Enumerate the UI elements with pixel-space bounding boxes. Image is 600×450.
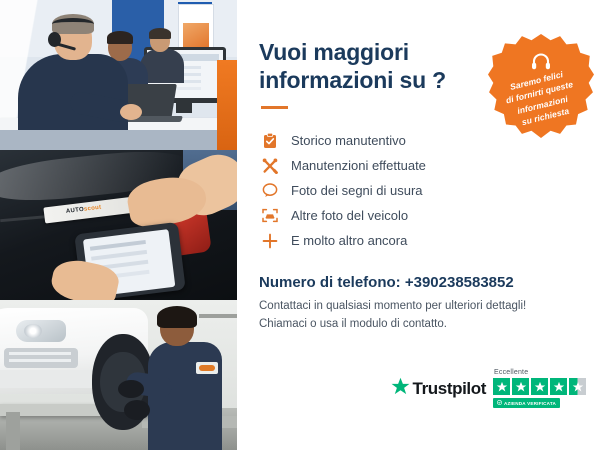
rating-star-2 bbox=[512, 378, 529, 395]
rating-star-3 bbox=[531, 378, 548, 395]
wall-poster bbox=[178, 4, 214, 52]
mechanic-hair bbox=[157, 306, 197, 328]
car-headlight bbox=[16, 320, 66, 342]
orange-accent-wall bbox=[217, 60, 237, 150]
phone-label: Numero di telefono: bbox=[259, 274, 401, 291]
callout-badge: Saremo felici di fornirti queste informa… bbox=[488, 34, 594, 138]
workshop-mechanic-photo bbox=[0, 300, 237, 450]
feature-item-more-photos: Altre foto del veicolo bbox=[259, 203, 578, 228]
contact-line-1: Contattaci in qualsiasi momento per ulte… bbox=[259, 300, 526, 312]
feature-list: Storico manutentivo Manutenzioni effettu… bbox=[259, 128, 578, 253]
desk-shadow bbox=[0, 130, 237, 150]
trustpilot-rating: Eccellente bbox=[493, 369, 586, 408]
car-grille bbox=[4, 348, 78, 368]
tools-cross-icon bbox=[259, 158, 281, 174]
vehicle-inspection-photo: AUTOscout bbox=[0, 150, 237, 300]
car-lift-post bbox=[6, 412, 20, 450]
title-divider bbox=[261, 106, 288, 109]
feature-item-wear-photos: Foto dei segni di usura bbox=[259, 178, 578, 203]
trustpilot-star-icon bbox=[391, 377, 410, 401]
contact-instructions: Contattaci in qualsiasi momento per ulte… bbox=[259, 298, 578, 334]
phone-number-line: Numero di telefono: +390238583852 bbox=[259, 274, 578, 291]
agent-one-hand bbox=[120, 104, 142, 120]
plus-icon bbox=[259, 233, 281, 249]
contact-line-2: Chiamaci o usa il modulo di contatto. bbox=[259, 318, 447, 330]
page-title: Vuoi maggiori informazioni su ? bbox=[259, 38, 459, 94]
content-panel: Vuoi maggiori informazioni su ? Saremo f… bbox=[237, 0, 600, 450]
workshop-shelf bbox=[199, 314, 237, 318]
mechanic-glove-upper bbox=[118, 380, 144, 398]
trustpilot-widget[interactable]: Trustpilot Eccellente bbox=[391, 369, 586, 408]
phone-number[interactable]: +390238583852 bbox=[405, 274, 514, 291]
page-title-line-1: Vuoi maggiori bbox=[259, 39, 409, 65]
speech-bubble-icon bbox=[259, 183, 281, 198]
feature-label: E molto altro ancora bbox=[291, 233, 407, 248]
trustpilot-rating-label: Eccellente bbox=[494, 369, 528, 376]
feature-item-maintenance-done: Manutenzioni effettuate bbox=[259, 153, 578, 178]
verified-check-icon bbox=[497, 400, 502, 406]
car-bumper bbox=[0, 370, 102, 388]
agent-three-hair bbox=[149, 28, 171, 39]
agent-two-hair bbox=[107, 31, 133, 44]
photo-frame-car-icon bbox=[259, 208, 281, 223]
monitor-stand bbox=[176, 103, 192, 113]
call-center-agents-photo bbox=[0, 0, 237, 150]
rating-star-4 bbox=[550, 378, 567, 395]
feature-label: Foto dei segni di usura bbox=[291, 183, 423, 198]
trustpilot-brand: Trustpilot bbox=[391, 377, 486, 401]
trustpilot-star-row bbox=[493, 378, 586, 395]
feature-label: Manutenzioni effettuate bbox=[291, 158, 426, 173]
feature-label: Storico manutentivo bbox=[291, 133, 406, 148]
verified-badge-text: AZIENDA VERIFICATA bbox=[504, 401, 556, 406]
page-title-line-2: informazioni su ? bbox=[259, 67, 446, 93]
rating-star-5-half bbox=[569, 378, 586, 395]
photo-column: AUTOscout bbox=[0, 0, 237, 450]
strip-brand-text: AUTOscout bbox=[66, 205, 102, 215]
rating-star-1 bbox=[493, 378, 510, 395]
trustpilot-wordmark: Trustpilot bbox=[413, 379, 486, 399]
mechanic-uniform-logo bbox=[196, 362, 218, 374]
verified-company-badge: AZIENDA VERIFICATA bbox=[493, 398, 560, 408]
headset-band bbox=[52, 18, 94, 30]
clipboard-check-icon bbox=[259, 133, 281, 149]
mechanic-glove-lower bbox=[124, 400, 150, 420]
feature-item-much-more: E molto altro ancora bbox=[259, 228, 578, 253]
feature-label: Altre foto del veicolo bbox=[291, 208, 408, 223]
promo-banner: AUTOscout bbox=[0, 0, 600, 450]
